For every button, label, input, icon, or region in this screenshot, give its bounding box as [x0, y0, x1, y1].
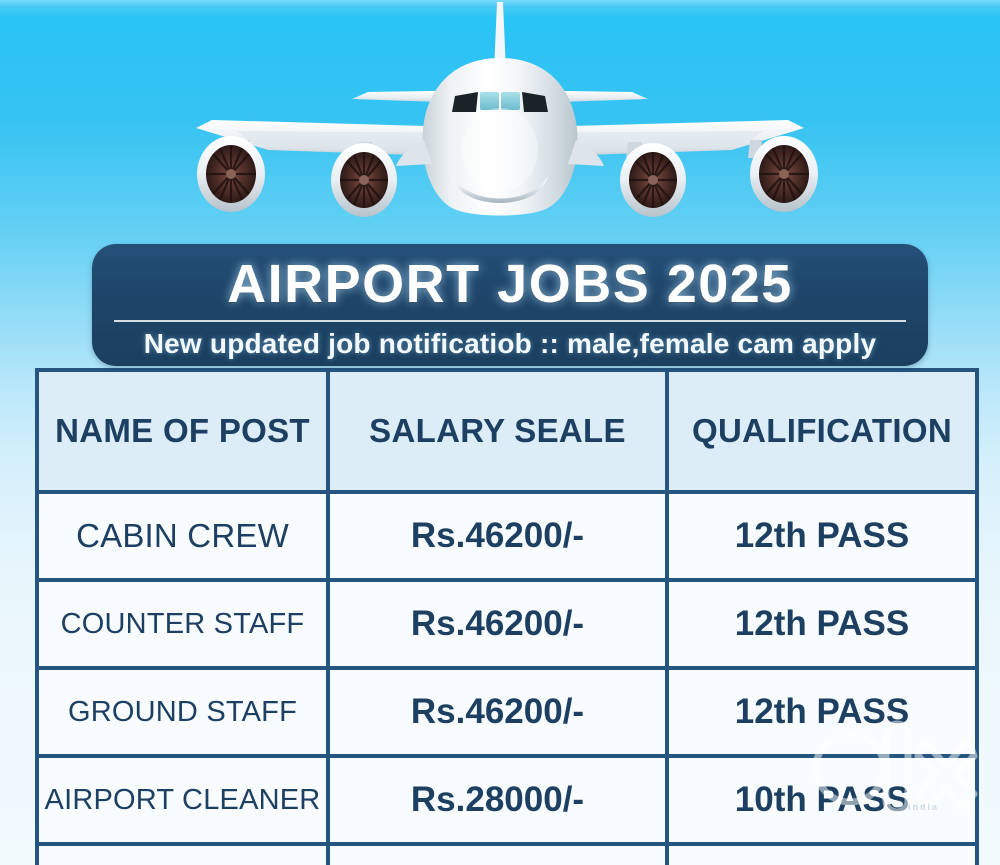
cell-post: COUNTER STAFF — [37, 580, 328, 668]
airliner-front-view-image — [0, 0, 1000, 250]
cell-salary: Rs.46200/- — [328, 492, 667, 580]
cell-post: GROUND STAFF — [37, 668, 328, 756]
cell-post: PACKING STAFF — [37, 844, 328, 865]
jobs-table-container: NAME OF POST SALARY SEALE QUALIFICATION … — [35, 368, 975, 865]
banner-divider — [114, 320, 906, 322]
table-row: CABIN CREW Rs.46200/- 12th PASS — [37, 492, 977, 580]
column-header-post: NAME OF POST — [37, 370, 328, 492]
table-row: COUNTER STAFF Rs.46200/- 12th PASS — [37, 580, 977, 668]
cell-salary: Rs.35000/- — [328, 844, 667, 865]
cell-qualification: 12th PASS — [667, 492, 977, 580]
cell-post: AIRPORT CLEANER — [37, 756, 328, 844]
cell-qualification: 12th PASS — [667, 580, 977, 668]
column-header-salary: SALARY SEALE — [328, 370, 667, 492]
page-subtitle: New updated job notificatiob :: male,fem… — [92, 324, 928, 364]
page-title: AIRPORT JOBS 2025 — [92, 253, 928, 315]
cell-salary: Rs.46200/- — [328, 580, 667, 668]
table-header-row: NAME OF POST SALARY SEALE QUALIFICATION — [37, 370, 977, 492]
cell-qualification: 10th PASS — [667, 844, 977, 865]
engine-nacelle-inner-left — [331, 143, 397, 217]
job-poster: AIRPORT JOBS 2025 New updated job notifi… — [0, 0, 1000, 865]
cell-salary: Rs.46200/- — [328, 668, 667, 756]
table-row: PACKING STAFF Rs.35000/- 10th PASS — [37, 844, 977, 865]
cell-qualification: 10th PASS — [667, 756, 977, 844]
table-row: GROUND STAFF Rs.46200/- 12th PASS — [37, 668, 977, 756]
engine-nacelle-inner-right — [620, 143, 686, 217]
table-row: AIRPORT CLEANER Rs.28000/- 10th PASS — [37, 756, 977, 844]
engine-nacelle-outer-left — [197, 136, 265, 212]
cell-post: CABIN CREW — [37, 492, 328, 580]
column-header-qualification: QUALIFICATION — [667, 370, 977, 492]
jobs-table: NAME OF POST SALARY SEALE QUALIFICATION … — [35, 368, 979, 865]
sky-top-edge-strip — [0, 0, 1000, 8]
engine-nacelle-outer-right — [750, 136, 818, 212]
cell-salary: Rs.28000/- — [328, 756, 667, 844]
title-banner: AIRPORT JOBS 2025 New updated job notifi… — [92, 244, 928, 366]
cell-qualification: 12th PASS — [667, 668, 977, 756]
